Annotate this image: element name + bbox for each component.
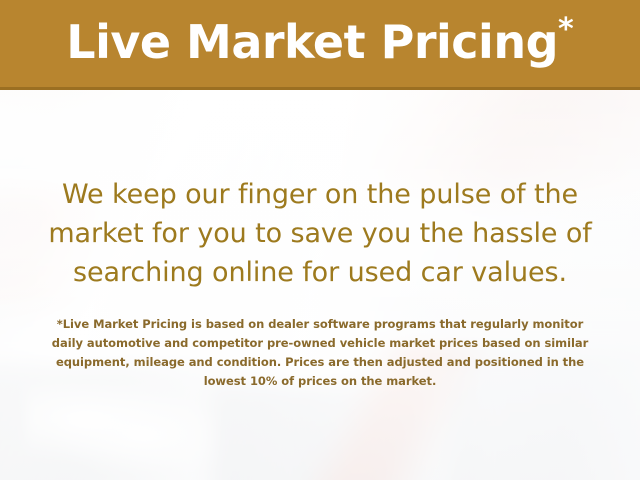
fine-print-line: equipment, mileage and condition. Prices…: [24, 353, 616, 372]
fine-print-line: daily automotive and competitor pre-owne…: [24, 334, 616, 353]
live-market-pricing-slide: Live Market Pricing* We keep our finger …: [0, 0, 640, 480]
header-banner: Live Market Pricing*: [0, 0, 640, 90]
page-title-text: Live Market Pricing: [66, 15, 558, 69]
footnote-marker: *: [558, 12, 574, 47]
headline-line: market for you to save you the hassle of: [22, 214, 618, 253]
headline-line: We keep our finger on the pulse of the: [22, 175, 618, 214]
headline-block: We keep our finger on the pulse of the m…: [22, 175, 618, 292]
fine-print-block: *Live Market Pricing is based on dealer …: [24, 315, 616, 391]
content-area: We keep our finger on the pulse of the m…: [0, 90, 640, 480]
fine-print-line: *Live Market Pricing is based on dealer …: [24, 315, 616, 334]
page-title: Live Market Pricing*: [66, 19, 573, 65]
fine-print-line: lowest 10% of prices on the market.: [24, 372, 616, 391]
headline-line: searching online for used car values.: [22, 253, 618, 292]
